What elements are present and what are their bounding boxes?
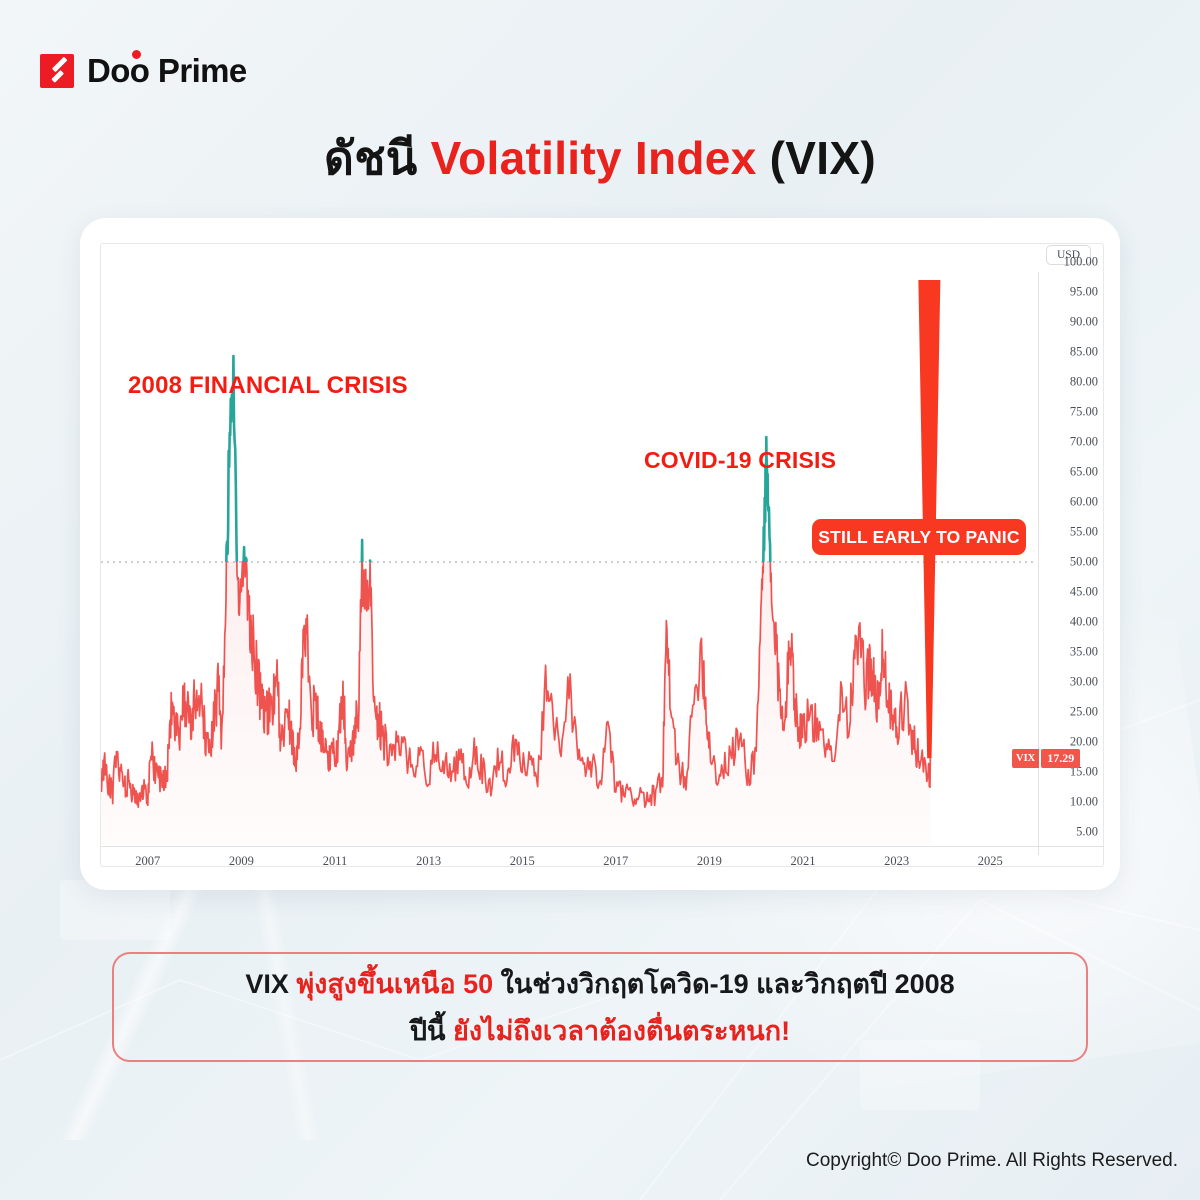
x-axis-tick: 2023 (884, 854, 909, 869)
doo-prime-logo-icon (40, 54, 74, 88)
caption-line-2-pre: ปีนี้ (410, 1016, 453, 1046)
y-axis-tick: 65.00 (1070, 465, 1098, 480)
x-axis-tick: 2013 (416, 854, 441, 869)
annotation-covid-19-crisis: COVID-19 CRISIS (644, 447, 836, 474)
annotation-2008-financial-crisis: 2008 FINANCIAL CRISIS (128, 372, 408, 400)
page-title: ดัชนี Volatility Index (VIX) (0, 122, 1200, 195)
y-axis-tick: 35.00 (1070, 645, 1098, 660)
y-axis-tick: 60.00 (1070, 495, 1098, 510)
brand-logo: Doo Prime (40, 52, 247, 90)
x-axis-tick: 2019 (697, 854, 722, 869)
caption-line-1-pre: VIX (245, 969, 296, 999)
page-title-highlight: Volatility Index (431, 132, 757, 184)
caption-line-1-post: ในช่วงวิกฤตโควิด-19 และวิกฤตปี 2008 (493, 969, 955, 999)
x-axis-tick: 2011 (323, 854, 348, 869)
x-axis-tick: 2007 (135, 854, 160, 869)
y-axis-tick: 90.00 (1070, 315, 1098, 330)
caption-line-2-highlight: ยังไม่ถึงเวลาต้องตื่นตระหนก! (453, 1016, 790, 1046)
x-axis-tick: 2017 (603, 854, 628, 869)
annotation-still-early-to-panic: STILL EARLY TO PANIC (812, 519, 1026, 555)
brand-name: Doo Prime (87, 52, 247, 90)
x-axis-line (101, 846, 1104, 847)
page-title-suffix: (VIX) (757, 132, 876, 184)
caption-box: VIX พุ่งสูงขึ้นเหนือ 50 ในช่วงวิกฤตโควิด… (112, 952, 1088, 1062)
current-price-tag: VIX 17.29 (1012, 749, 1080, 768)
y-axis-tick: 30.00 (1070, 675, 1098, 690)
y-axis-tick: 70.00 (1070, 435, 1098, 450)
y-axis: 100.0095.0090.0085.0080.0075.0070.0065.0… (1040, 275, 1104, 860)
y-axis-tick: 95.00 (1070, 285, 1098, 300)
x-axis-tick: 2021 (791, 854, 816, 869)
caption-line-2: ปีนี้ ยังไม่ถึงเวลาต้องตื่นตระหนก! (410, 1009, 790, 1052)
x-axis: 2007200920112013201520172019202120232025 (101, 848, 1037, 876)
y-axis-tick: 80.00 (1070, 375, 1098, 390)
caption-line-1-highlight: พุ่งสูงขึ้นเหนือ 50 (296, 969, 493, 999)
y-axis-tick: 25.00 (1070, 705, 1098, 720)
x-axis-tick: 2025 (978, 854, 1003, 869)
y-axis-tick: 10.00 (1070, 795, 1098, 810)
caption-line-1: VIX พุ่งสูงขึ้นเหนือ 50 ในช่วงวิกฤตโควิด… (245, 962, 954, 1005)
page-title-prefix: ดัชนี (324, 132, 431, 184)
copyright-footer: Copyright© Doo Prime. All Rights Reserve… (806, 1150, 1178, 1172)
x-axis-tick: 2009 (229, 854, 254, 869)
y-axis-tick: 100.00 (1064, 255, 1098, 270)
x-axis-tick: 2015 (510, 854, 535, 869)
price-tag-symbol: VIX (1012, 749, 1039, 768)
y-axis-tick: 40.00 (1070, 615, 1098, 630)
y-axis-tick: 45.00 (1070, 585, 1098, 600)
y-axis-tick: 55.00 (1070, 525, 1098, 540)
y-axis-tick: 50.00 (1070, 555, 1098, 570)
logo-dot-icon (132, 50, 141, 59)
y-axis-tick: 20.00 (1070, 735, 1098, 750)
price-tag-value: 17.29 (1041, 749, 1080, 768)
y-axis-tick: 85.00 (1070, 345, 1098, 360)
y-axis-tick: 5.00 (1076, 825, 1098, 840)
y-axis-tick: 75.00 (1070, 405, 1098, 420)
